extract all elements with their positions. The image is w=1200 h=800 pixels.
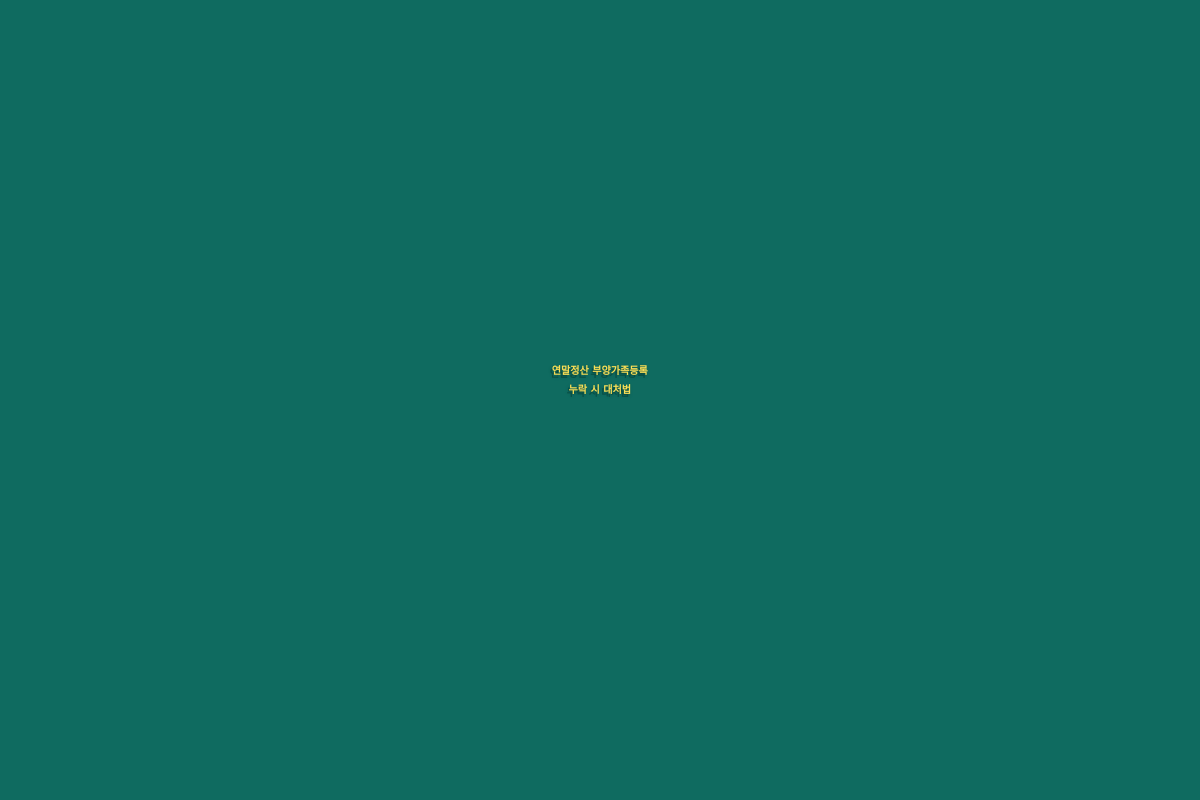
title-block: 연말정산 부양가족등록 누락 시 대처법 (0, 365, 1200, 397)
title-line-1: 연말정산 부양가족등록 (40, 365, 1160, 378)
title-card-banner: 연말정산 부양가족등록 누락 시 대처법 (0, 0, 1200, 800)
title-line-2: 누락 시 대처법 (40, 384, 1160, 397)
